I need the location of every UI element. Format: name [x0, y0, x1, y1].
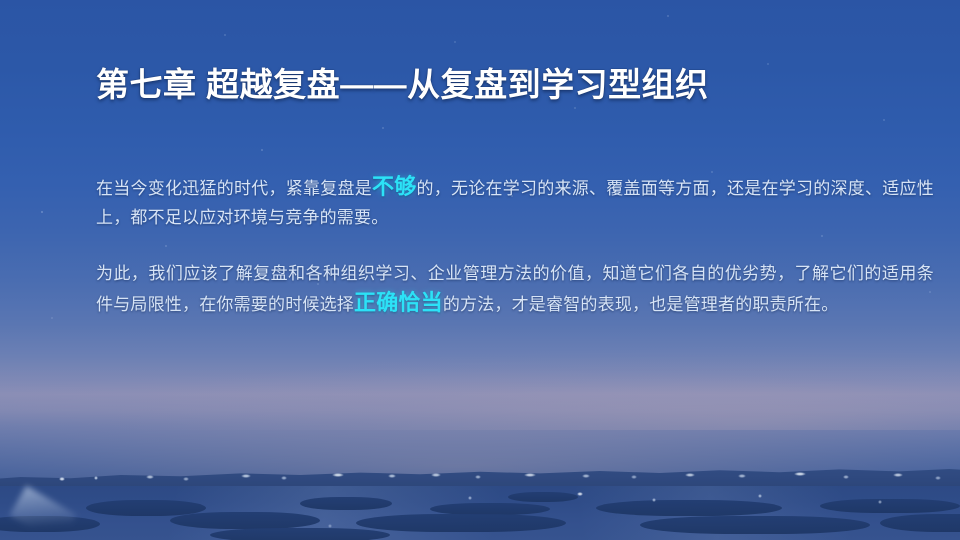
page-title: 第七章 超越复盘——从复盘到学习型组织 — [96, 58, 709, 106]
highlighted-keyword: 正确恰当 — [354, 290, 443, 315]
body-text-block: 在当今变化迅猛的时代，紧靠复盘是不够的，无论在学习的来源、覆盖面等方面，还是在学… — [96, 172, 934, 319]
text-segment-0: 在当今变化迅猛的时代，紧靠复盘是 — [96, 179, 372, 198]
paragraph-2: 为此，我们应该了解复盘和各种组织学习、企业管理方法的价值，知道它们各自的优劣势，… — [96, 259, 934, 319]
paragraph-1: 在当今变化迅猛的时代，紧靠复盘是不够的，无论在学习的来源、覆盖面等方面，还是在学… — [96, 172, 934, 232]
slide-content: 第七章 超越复盘——从复盘到学习型组织 在当今变化迅猛的时代，紧靠复盘是不够的，… — [0, 0, 960, 540]
text-segment-2: 的方法，才是睿智的表现，也是管理者的职责所在。 — [443, 295, 839, 314]
presentation-slide: 第七章 超越复盘——从复盘到学习型组织 在当今变化迅猛的时代，紧靠复盘是不够的，… — [0, 0, 960, 540]
highlighted-keyword: 不够 — [372, 174, 417, 199]
